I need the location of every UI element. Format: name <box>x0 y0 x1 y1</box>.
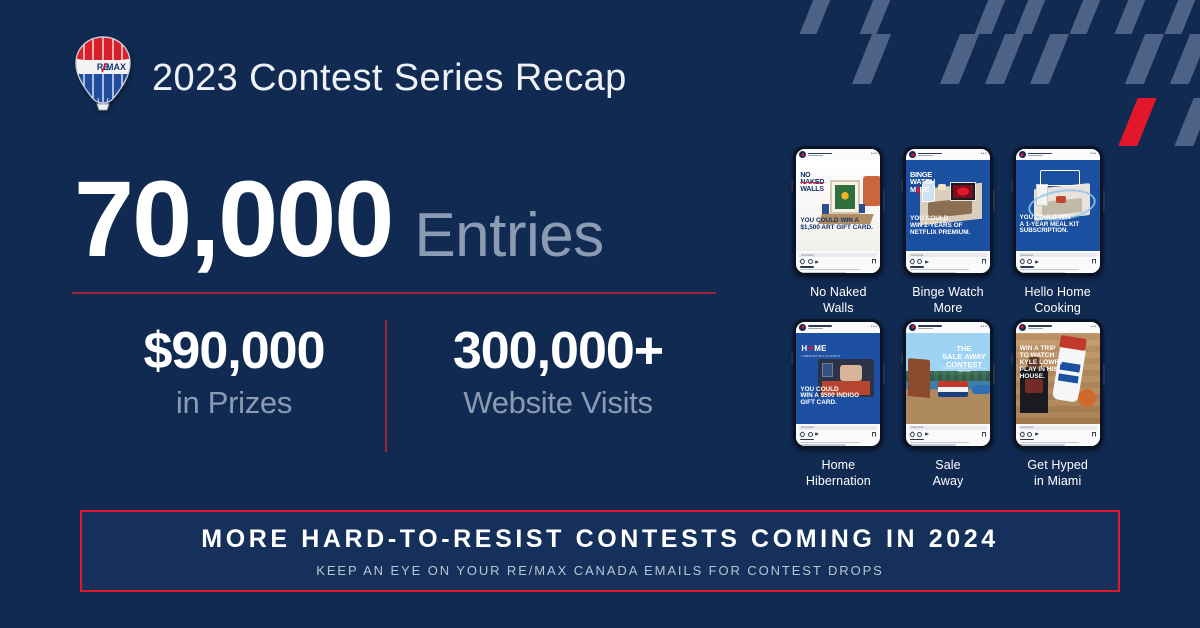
post-image: H✦ME HIBERNATION CONTEST YOU COULDWIN A … <box>796 333 880 424</box>
coming-soon-banner: MORE HARD-TO-RESIST CONTESTS COMING IN 2… <box>80 510 1120 592</box>
contest-phone-grid: ••• NONAKEDWALLS YOU COULD WIN A$1,500 A… <box>788 146 1108 489</box>
comment-icon[interactable] <box>808 259 813 264</box>
contest-card: ••• YOU COULD WINA 1-YEAR MEAL KITSUBSCR… <box>1007 146 1108 317</box>
comment-icon[interactable] <box>917 259 922 264</box>
sub-stat-value: 300,000+ <box>396 322 720 380</box>
contest-card: ••• H✦ME HIBERNATION CONTEST YOU COULDWI… <box>788 319 889 490</box>
sub-stat-label: in Prizes <box>72 382 396 424</box>
phone-mockup: ••• H✦ME HIBERNATION CONTEST YOU COULDWI… <box>793 319 883 449</box>
bookmark-icon[interactable] <box>1092 432 1096 437</box>
contest-card: ••• NONAKEDWALLS YOU COULD WIN A$1,500 A… <box>788 146 889 317</box>
share-icon[interactable] <box>815 260 819 264</box>
heart-icon[interactable] <box>909 431 916 438</box>
bookmark-icon[interactable] <box>1092 259 1096 264</box>
phone-mockup: ••• WIN A TRIPTO WATCHKYLE LOWRYPLAY IN … <box>1013 319 1103 449</box>
phone-mockup: ••• THESALE AWAYCONTEST SOMEONE IS GOING… <box>903 319 993 449</box>
caption-line-2: Cooking <box>1034 301 1081 315</box>
avatar <box>1019 151 1026 158</box>
caption-line-1: Hello Home <box>1025 285 1091 299</box>
phone-mockup: ••• YOU COULD WINA 1-YEAR MEAL KITSUBSCR… <box>1013 146 1103 276</box>
share-icon[interactable] <box>1035 260 1039 264</box>
caption-line-2: Away <box>933 474 964 488</box>
sub-stat-label: Website Visits <box>396 382 720 424</box>
instagram-post-header: ••• <box>796 322 880 333</box>
share-icon[interactable] <box>815 432 819 436</box>
post-image: THESALE AWAYCONTEST SOMEONE IS GOING AWA… <box>906 333 990 424</box>
download-label[interactable]: Download <box>1021 254 1033 257</box>
sub-stat-prizes: $90,000 in Prizes <box>72 322 396 424</box>
avatar <box>1019 324 1026 331</box>
avatar <box>909 324 916 331</box>
phone-mockup: ••• NONAKEDWALLS YOU COULD WIN A$1,500 A… <box>793 146 883 276</box>
heart-icon[interactable] <box>799 258 806 265</box>
heart-icon[interactable] <box>1019 431 1026 438</box>
bookmark-icon[interactable] <box>872 432 876 437</box>
bookmark-icon[interactable] <box>872 259 876 264</box>
phone-mockup: ••• BINGEWATCHM▮RE YOU COULDWIN 2-YEARS … <box>903 146 993 276</box>
download-label[interactable]: Download <box>801 426 813 429</box>
download-label[interactable]: Download <box>911 426 923 429</box>
comment-icon[interactable] <box>1027 259 1032 264</box>
download-label[interactable]: Download <box>801 254 813 257</box>
instagram-post-header: ••• <box>796 149 880 160</box>
post-image: BINGEWATCHM▮RE YOU COULDWIN 2-YEARS OFNE… <box>906 160 990 251</box>
contest-card: ••• THESALE AWAYCONTEST SOMEONE IS GOING… <box>898 319 999 490</box>
contest-caption: Hello Home Cooking <box>1025 284 1091 317</box>
heart-icon[interactable] <box>1019 258 1026 265</box>
remax-balloon-icon: RE X MAX <box>72 34 134 122</box>
download-label[interactable]: Download <box>911 254 923 257</box>
contest-caption: No Naked Walls <box>810 284 866 317</box>
contest-caption: Home Hibernation <box>806 457 871 490</box>
instagram-post-header: ••• <box>906 149 990 160</box>
avatar <box>909 151 916 158</box>
caption-line-2: Hibernation <box>806 474 871 488</box>
more-options-icon[interactable]: ••• <box>981 152 987 157</box>
more-options-icon[interactable]: ••• <box>1090 152 1096 157</box>
download-label[interactable]: Download <box>1021 426 1033 429</box>
caption-line-1: Home <box>821 458 855 472</box>
page-title: 2023 Contest Series Recap <box>152 57 627 100</box>
share-icon[interactable] <box>925 260 929 264</box>
caption-line-2: in Miami <box>1034 474 1081 488</box>
comment-icon[interactable] <box>808 432 813 437</box>
instagram-post-header: ••• <box>1016 149 1100 160</box>
hero-stat: 70,000 Entries <box>74 168 604 271</box>
recap-graphic: RE X MAX 2023 Contest Series Recap 70,00… <box>0 0 1200 628</box>
banner-headline: MORE HARD-TO-RESIST CONTESTS COMING IN 2… <box>201 525 998 554</box>
banner-subline: KEEP AN EYE ON YOUR RE/MAX CANADA EMAILS… <box>316 563 883 578</box>
header: RE X MAX 2023 Contest Series Recap <box>72 34 627 122</box>
caption-line-1: Get Hyped <box>1027 458 1088 472</box>
more-options-icon[interactable]: ••• <box>871 325 877 330</box>
more-options-icon[interactable]: ••• <box>1090 325 1096 330</box>
horizontal-divider <box>72 292 716 294</box>
post-image: NONAKEDWALLS YOU COULD WIN A$1,500 ART G… <box>796 160 880 251</box>
contest-caption: Get Hyped in Miami <box>1027 457 1088 490</box>
share-icon[interactable] <box>1035 432 1039 436</box>
post-image: YOU COULD WINA 1-YEAR MEAL KITSUBSCRIPTI… <box>1016 160 1100 251</box>
contest-caption: Sale Away <box>933 457 964 490</box>
comment-icon[interactable] <box>917 432 922 437</box>
caption-line-1: No Naked <box>810 285 866 299</box>
sub-stats-row: $90,000 in Prizes 300,000+ Website Visit… <box>72 322 720 424</box>
contest-caption: Binge Watch More <box>912 284 984 317</box>
more-options-icon[interactable]: ••• <box>871 152 877 157</box>
diagonal-stripes-decoration <box>780 0 1200 150</box>
caption-line-1: Binge Watch <box>912 285 984 299</box>
share-icon[interactable] <box>925 432 929 436</box>
contest-card: ••• WIN A TRIPTO WATCHKYLE LOWRYPLAY IN … <box>1007 319 1108 490</box>
contest-card: ••• BINGEWATCHM▮RE YOU COULDWIN 2-YEARS … <box>898 146 999 317</box>
bookmark-icon[interactable] <box>982 259 986 264</box>
vertical-divider <box>385 320 387 452</box>
caption-line-1: Sale <box>935 458 960 472</box>
post-image: WIN A TRIPTO WATCHKYLE LOWRYPLAY IN HISH… <box>1016 333 1100 424</box>
instagram-post-header: ••• <box>906 322 990 333</box>
more-options-icon[interactable]: ••• <box>981 325 987 330</box>
svg-text:MAX: MAX <box>106 62 126 72</box>
caption-line-2: More <box>934 301 963 315</box>
bookmark-icon[interactable] <box>982 432 986 437</box>
instagram-post-header: ••• <box>1016 322 1100 333</box>
sub-stat-visits: 300,000+ Website Visits <box>396 322 720 424</box>
heart-icon[interactable] <box>799 431 806 438</box>
avatar <box>799 151 806 158</box>
hero-stat-value: 70,000 <box>74 168 392 271</box>
sub-stat-value: $90,000 <box>72 322 396 380</box>
caption-line-2: Walls <box>823 301 854 315</box>
heart-icon[interactable] <box>909 258 916 265</box>
hero-stat-label: Entries <box>414 200 603 271</box>
comment-icon[interactable] <box>1027 432 1032 437</box>
avatar <box>799 324 806 331</box>
